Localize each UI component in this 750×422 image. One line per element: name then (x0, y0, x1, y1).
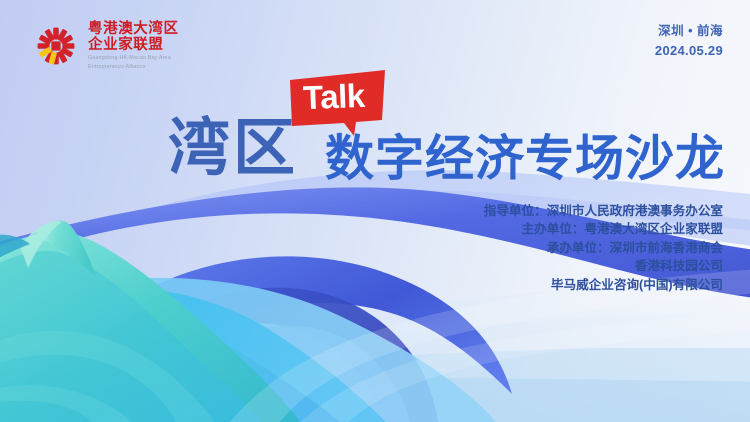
credit-row: 指导单位： 深圳市人民政府港澳事务办公室 (484, 202, 723, 220)
poster-canvas: 粤港澳大湾区 企业家联盟 Guangdong-HK-Macao Bay Area… (0, 0, 750, 422)
credit-label: 承办单位： (547, 239, 610, 257)
talk-badge-label: Talk (302, 77, 365, 117)
credit-label: 主办单位： (522, 220, 585, 238)
credit-value: 香港科技园公司 (635, 257, 723, 275)
logo-en-line2: Entrepreneurs Alliance (88, 64, 179, 71)
event-date: 2024.05.29 (655, 41, 723, 60)
credits-block: 指导单位： 深圳市人民政府港澳事务办公室 主办单位： 粤港澳大湾区企业家联盟 承… (484, 202, 723, 294)
credit-continuation-row: 承办单位： 香港科技园公司 (484, 257, 723, 275)
event-location: 深圳 • 前海 (655, 22, 723, 41)
credit-continuation-row: 承办单位： 毕马威企业咨询(中国)有限公司 (484, 276, 723, 294)
sunburst-logo-mark (33, 23, 79, 69)
credit-value: 深圳市前海香港商会 (610, 239, 723, 257)
credit-row: 主办单位： 粤港澳大湾区企业家联盟 (484, 220, 723, 238)
title-highlight: 湾区 (168, 118, 298, 180)
title-main: 数字经济专场沙龙 (325, 133, 725, 185)
logo-cn-line1: 粤港澳大湾区 (88, 22, 179, 38)
event-meta: 深圳 • 前海 2024.05.29 (655, 22, 723, 60)
logo-text-block: 粤港澳大湾区 企业家联盟 Guangdong-HK-Macao Bay Area… (88, 22, 179, 70)
logo-cn-line2: 企业家联盟 (88, 38, 179, 54)
logo-en-line1: Guangdong-HK-Macao Bay Area (88, 55, 179, 62)
credit-value: 粤港澳大湾区企业家联盟 (584, 220, 723, 238)
credit-value: 深圳市人民政府港澳事务办公室 (547, 202, 723, 220)
credit-row: 承办单位： 深圳市前海香港商会 (484, 239, 723, 257)
credit-label: 指导单位： (484, 202, 547, 220)
alliance-logo: 粤港澳大湾区 企业家联盟 Guangdong-HK-Macao Bay Area… (33, 22, 179, 70)
credit-value: 毕马威企业咨询(中国)有限公司 (551, 276, 723, 294)
